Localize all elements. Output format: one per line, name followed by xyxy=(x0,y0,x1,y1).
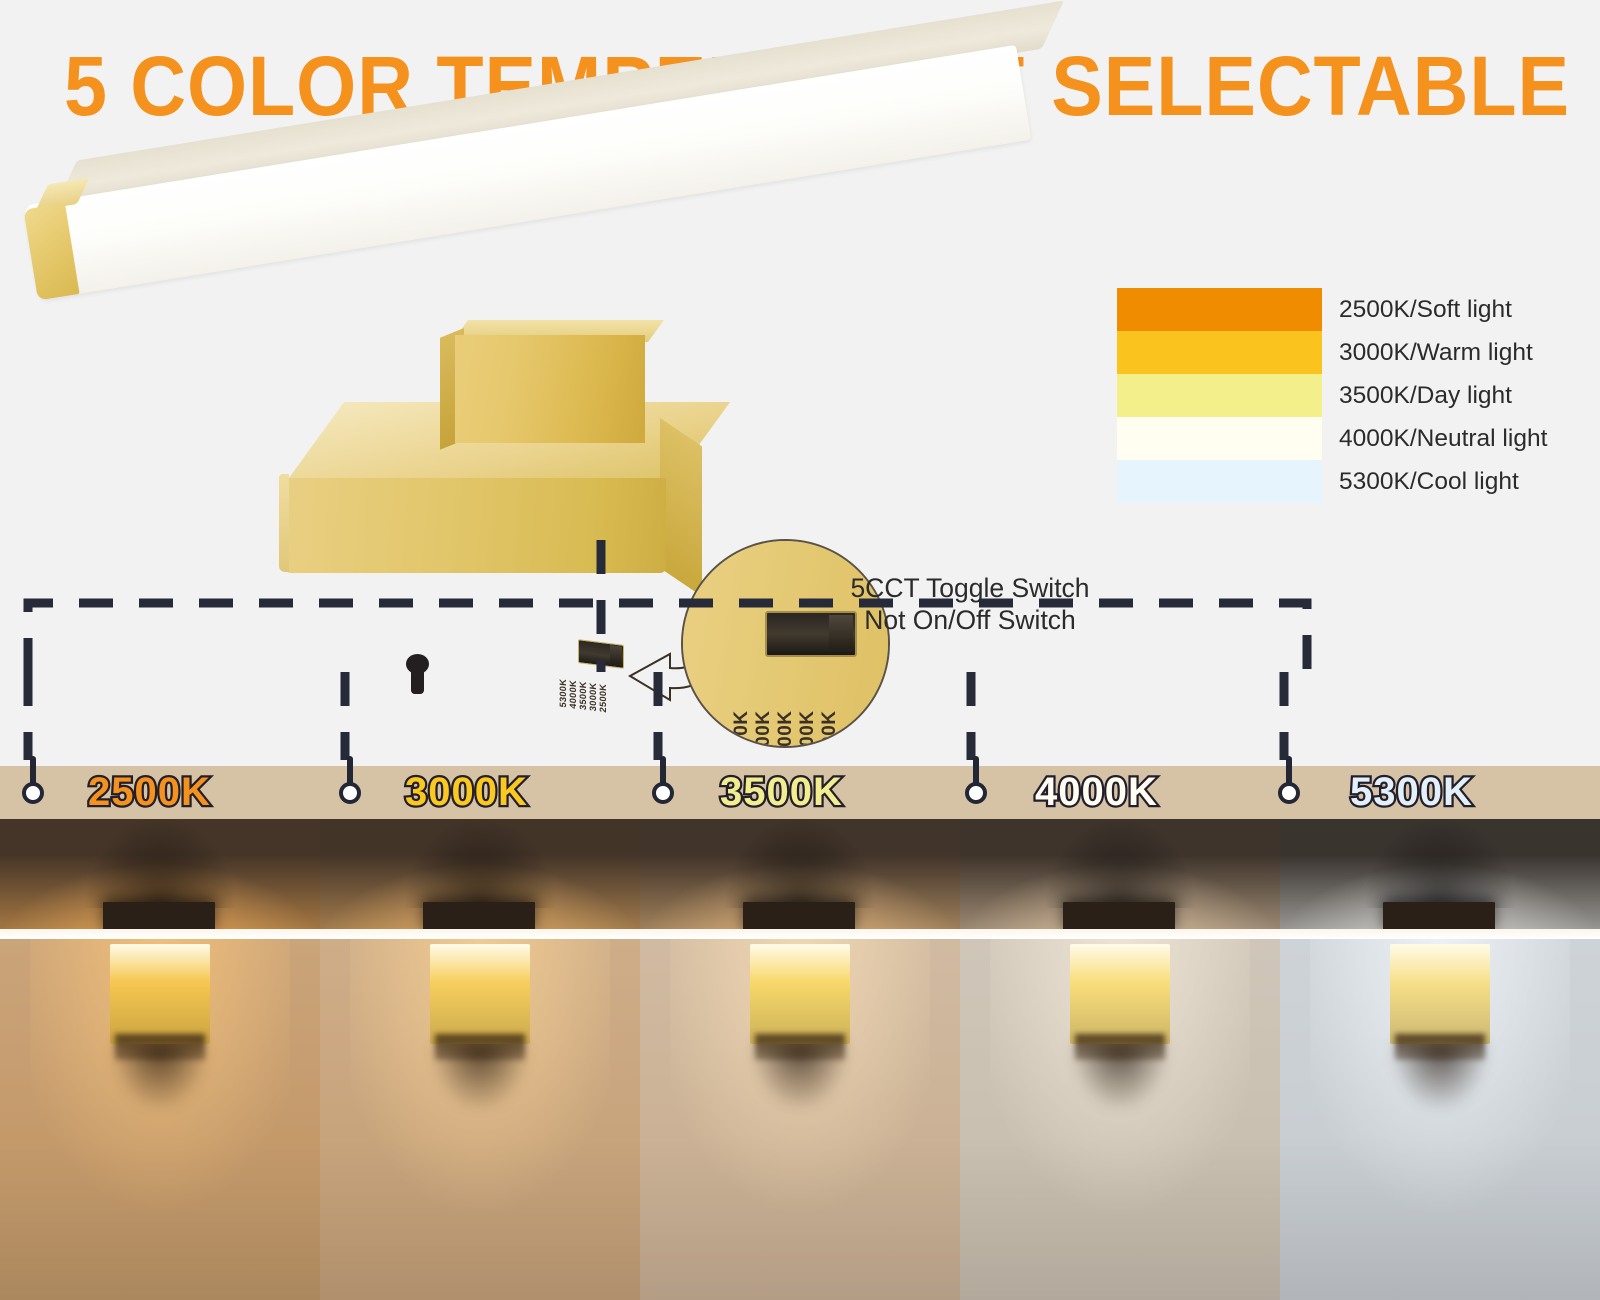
pin-2500k xyxy=(22,756,44,808)
connector-bus xyxy=(28,603,1307,672)
infographic-root: 5 COLOR TEMPERATURE SELECTABLE 2500K 300… xyxy=(0,0,1600,1300)
ceiling-light-line xyxy=(0,929,1600,939)
downlight-cell-5300k xyxy=(1280,938,1600,1300)
legend-label-3500k: 3500K/Day light xyxy=(1339,374,1600,417)
downlight-cell-3000k xyxy=(320,938,640,1300)
uplight-cell-3000k xyxy=(320,819,640,938)
pin-5300k xyxy=(1278,756,1300,808)
legend-label-2500k: 2500K/Soft light xyxy=(1339,288,1600,331)
uplight-cell-5300k xyxy=(1280,819,1600,938)
uplight-cell-2500k xyxy=(0,819,320,938)
pin-4000k xyxy=(965,756,987,808)
pin-3500k xyxy=(652,756,674,808)
legend-swatch-3000k xyxy=(1117,331,1322,374)
downlight-cell-2500k xyxy=(0,938,320,1300)
uplight-cell-3500k xyxy=(640,819,960,938)
legend-swatch-3500k xyxy=(1117,374,1322,417)
downlight-photo-strip xyxy=(0,938,1600,1300)
legend-swatch-2500k xyxy=(1117,288,1322,331)
temperature-pins xyxy=(0,756,1600,816)
connector-lines xyxy=(0,430,1600,790)
pin-3000k xyxy=(339,756,361,808)
riser-front-face xyxy=(455,335,645,443)
uplight-cell-4000k xyxy=(960,819,1280,938)
downlight-cell-3500k xyxy=(640,938,960,1300)
legend-label-3000k: 3000K/Warm light xyxy=(1339,331,1600,374)
downlight-cell-4000k xyxy=(960,938,1280,1300)
uplight-photo-strip xyxy=(0,819,1600,938)
lighting-comparison-photos xyxy=(0,819,1600,1300)
